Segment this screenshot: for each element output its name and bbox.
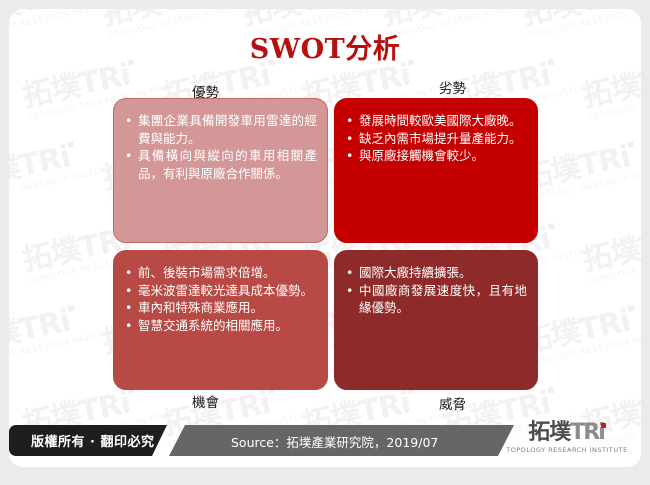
weaknesses-bullet-list: •發展時間較歐美國際大廠晚。•缺乏內需市場提升量產能力。•與原廠接觸機會較少。 [343,112,527,165]
threats-bullet-list: •國際大廠持續擴張。•中國廠商發展速度快，且有地緣優勢。 [343,264,527,317]
bullet-item: •缺乏內需市場提升量產能力。 [343,130,527,148]
watermark-subtitle: TOPOLOGY RESEARCH INSTITUTE [586,72,641,123]
bullet-text: 發展時間較歐美國際大廠晚。 [359,113,522,128]
bullet-text: 中國廠商發展速度快，且有地緣優勢。 [359,283,527,316]
bullet-icon: • [125,147,132,165]
bullet-item: •發展時間較歐美國際大廠晚。 [343,112,527,130]
bullet-item: •國際大廠持續擴張。 [343,264,527,282]
bullet-icon: • [125,299,132,317]
watermark-brand: 拓墣TRi [520,287,641,358]
copyright-text: 版權所有 · 翻印必究 [31,431,155,450]
logo-institute-text: TOPOLOGY RESEARCH INSTITUTE [503,446,631,454]
watermark-brand: 拓墣TRi [580,205,641,276]
watermark-tile: 拓墣TRiTOPOLOGY RESEARCH INSTITUTE [520,123,641,270]
opportunities-bullet-list: •前、後裝市場需求倍增。•毫米波雷達較光達具成本優勢。•車內和特殊商業應用。•智… [122,264,317,334]
bullet-text: 智慧交通系統的相關應用。 [138,318,288,333]
bullet-icon: • [125,264,132,282]
bullet-item: •毫米波雷達較光達具成本優勢。 [122,282,317,300]
watermark-accent-dot [67,141,74,148]
bullet-icon: • [346,112,353,130]
watermark-tile: 拓墣TRiTOPOLOGY RESEARCH INSTITUTE [580,205,641,352]
watermark-subtitle: TOPOLOGY RESEARCH INSTITUTE [586,236,641,287]
bullet-icon: • [346,282,353,300]
bullet-item: •具備橫向與縱向的車用相關產品，有利與原廠合作關係。 [122,147,317,182]
logo-brand-cn: 拓墣 [528,420,570,445]
watermark-subtitle: TOPOLOGY RESEARCH INSTITUTE [526,154,641,205]
bullet-text: 缺乏內需市場提升量產能力。 [359,131,522,146]
source-banner: Source：拓墣產業研究院，2019/07 [169,425,514,456]
footer-bar: 版權所有 · 翻印必究 Source：拓墣產業研究院，2019/07 拓墣TRi… [9,419,641,467]
tri-logo: 拓墣TRi TOPOLOGY RESEARCH INSTITUTE [503,421,631,461]
bullet-item: •中國廠商發展速度快，且有地緣優勢。 [343,282,527,317]
bullet-item: •與原廠接觸機會較少。 [343,147,527,165]
bullet-text: 集團企業具備開發車用雷達的經費與能力。 [138,113,317,146]
bullet-text: 車內和特殊商業應用。 [138,300,263,315]
swot-quadrant-threats: •國際大廠持續擴張。•中國廠商發展速度快，且有地緣優勢。 [334,250,538,390]
logo-wordmark: 拓墣TRi [503,421,631,445]
page-title: SWOT分析 [9,27,641,66]
quadrant-label-opportunities: 機會 [192,391,219,411]
source-text: Source：拓墣產業研究院，2019/07 [231,432,438,451]
bullet-icon: • [125,282,132,300]
copyright-banner: 版權所有 · 翻印必究 [9,425,189,456]
slide-canvas: 拓墣TRiTOPOLOGY RESEARCH INSTITUTE拓墣TRiTOP… [9,9,641,467]
watermark-tile: 拓墣TRiTOPOLOGY RESEARCH INSTITUTE [520,287,641,434]
watermark-accent-dot [627,141,634,148]
quadrant-label-weaknesses: 劣勢 [439,77,466,97]
swot-quadrant-opportunities: •前、後裝市場需求倍增。•毫米波雷達較光達具成本優勢。•車內和特殊商業應用。•智… [113,250,328,390]
swot-quadrant-strengths: •集團企業具備開發車用雷達的經費與能力。•具備橫向與縱向的車用相關產品，有利與原… [113,98,328,243]
bullet-item: •集團企業具備開發車用雷達的經費與能力。 [122,112,317,147]
swot-quadrant-weaknesses: •發展時間較歐美國際大廠晚。•缺乏內需市場提升量產能力。•與原廠接觸機會較少。 [334,98,538,243]
watermark-subtitle: TOPOLOGY RESEARCH INSTITUTE [526,318,641,369]
strengths-bullet-list: •集團企業具備開發車用雷達的經費與能力。•具備橫向與縱向的車用相關產品，有利與原… [122,112,317,182]
watermark-accent-dot [627,305,634,312]
bullet-text: 具備橫向與縱向的車用相關產品，有利與原廠合作關係。 [138,148,317,181]
logo-brand-en: TRi [570,420,604,445]
watermark-accent-dot [547,387,554,394]
bullet-text: 前、後裝市場需求倍增。 [138,265,276,280]
bullet-text: 與原廠接觸機會較少。 [359,148,484,163]
bullet-icon: • [125,112,132,130]
swot-matrix: •集團企業具備開發車用雷達的經費與能力。•具備橫向與縱向的車用相關產品，有利與原… [113,98,538,390]
watermark-accent-dot [547,223,554,230]
watermark-brand: 拓墣TRi [520,123,641,194]
bullet-icon: • [346,147,353,165]
bullet-icon: • [346,264,353,282]
quadrant-label-threats: 威脅 [439,393,466,413]
bullet-item: •前、後裝市場需求倍增。 [122,264,317,282]
bullet-item: •車內和特殊商業應用。 [122,299,317,317]
bullet-icon: • [346,130,353,148]
logo-accent-dot [601,423,606,428]
quadrant-label-strengths: 優勢 [192,81,219,101]
watermark-accent-dot [67,305,74,312]
bullet-text: 國際大廠持續擴張。 [359,265,472,280]
bullet-icon: • [125,317,132,335]
bullet-text: 毫米波雷達較光達具成本優勢。 [138,283,313,298]
bullet-item: •智慧交通系統的相關應用。 [122,317,317,335]
